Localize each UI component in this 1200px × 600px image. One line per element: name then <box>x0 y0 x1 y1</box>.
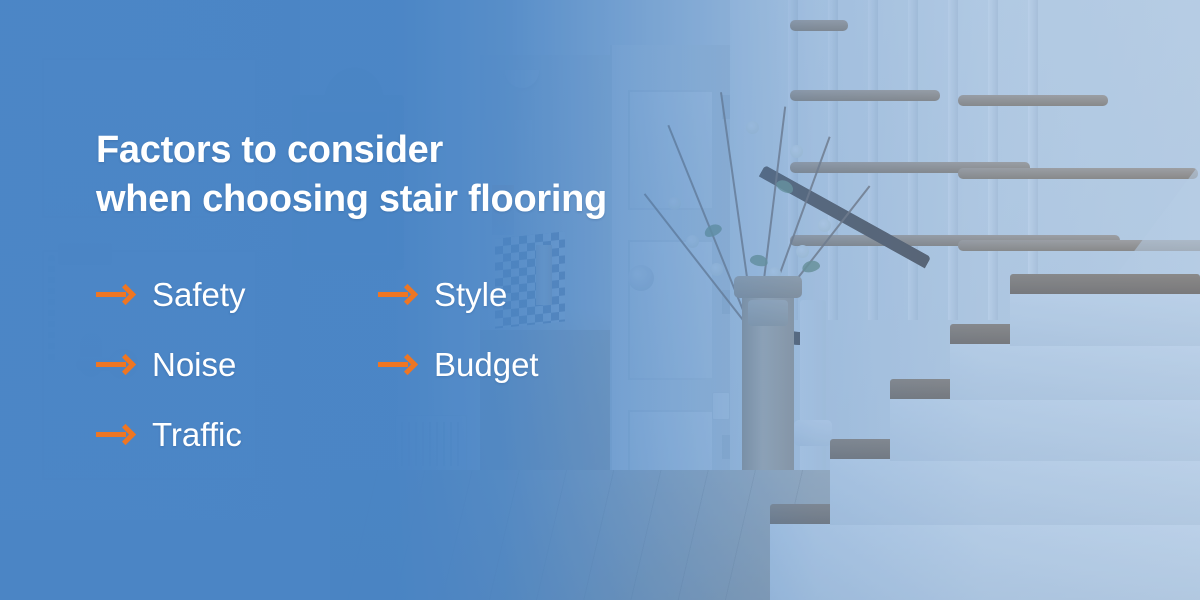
arrow-right-icon <box>96 424 134 444</box>
headline-line-2: when choosing stair flooring <box>96 175 607 224</box>
list-item: Safety <box>96 272 246 316</box>
list-item-label: Style <box>434 278 507 311</box>
list-item-label: Traffic <box>152 418 242 451</box>
page-title: Factors to consider when choosing stair … <box>96 126 607 224</box>
list-item: Style <box>378 272 539 316</box>
list-item: Budget <box>378 342 539 386</box>
list-item: Traffic <box>96 412 246 456</box>
stair-flooring-banner: Factors to consider when choosing stair … <box>0 0 1200 600</box>
arrow-right-icon <box>96 284 134 304</box>
arrow-right-icon <box>378 284 416 304</box>
arrow-right-icon <box>96 354 134 374</box>
banner-content: Factors to consider when choosing stair … <box>0 0 1200 600</box>
list-item-label: Safety <box>152 278 246 311</box>
list-item-label: Budget <box>434 348 539 381</box>
list-item-label: Noise <box>152 348 236 381</box>
list-item: Noise <box>96 342 246 386</box>
factors-column-1: Safety Noise Traffic <box>96 272 246 456</box>
factors-column-2: Style Budget <box>378 272 539 386</box>
headline-line-1: Factors to consider <box>96 129 443 171</box>
arrow-right-icon <box>378 354 416 374</box>
